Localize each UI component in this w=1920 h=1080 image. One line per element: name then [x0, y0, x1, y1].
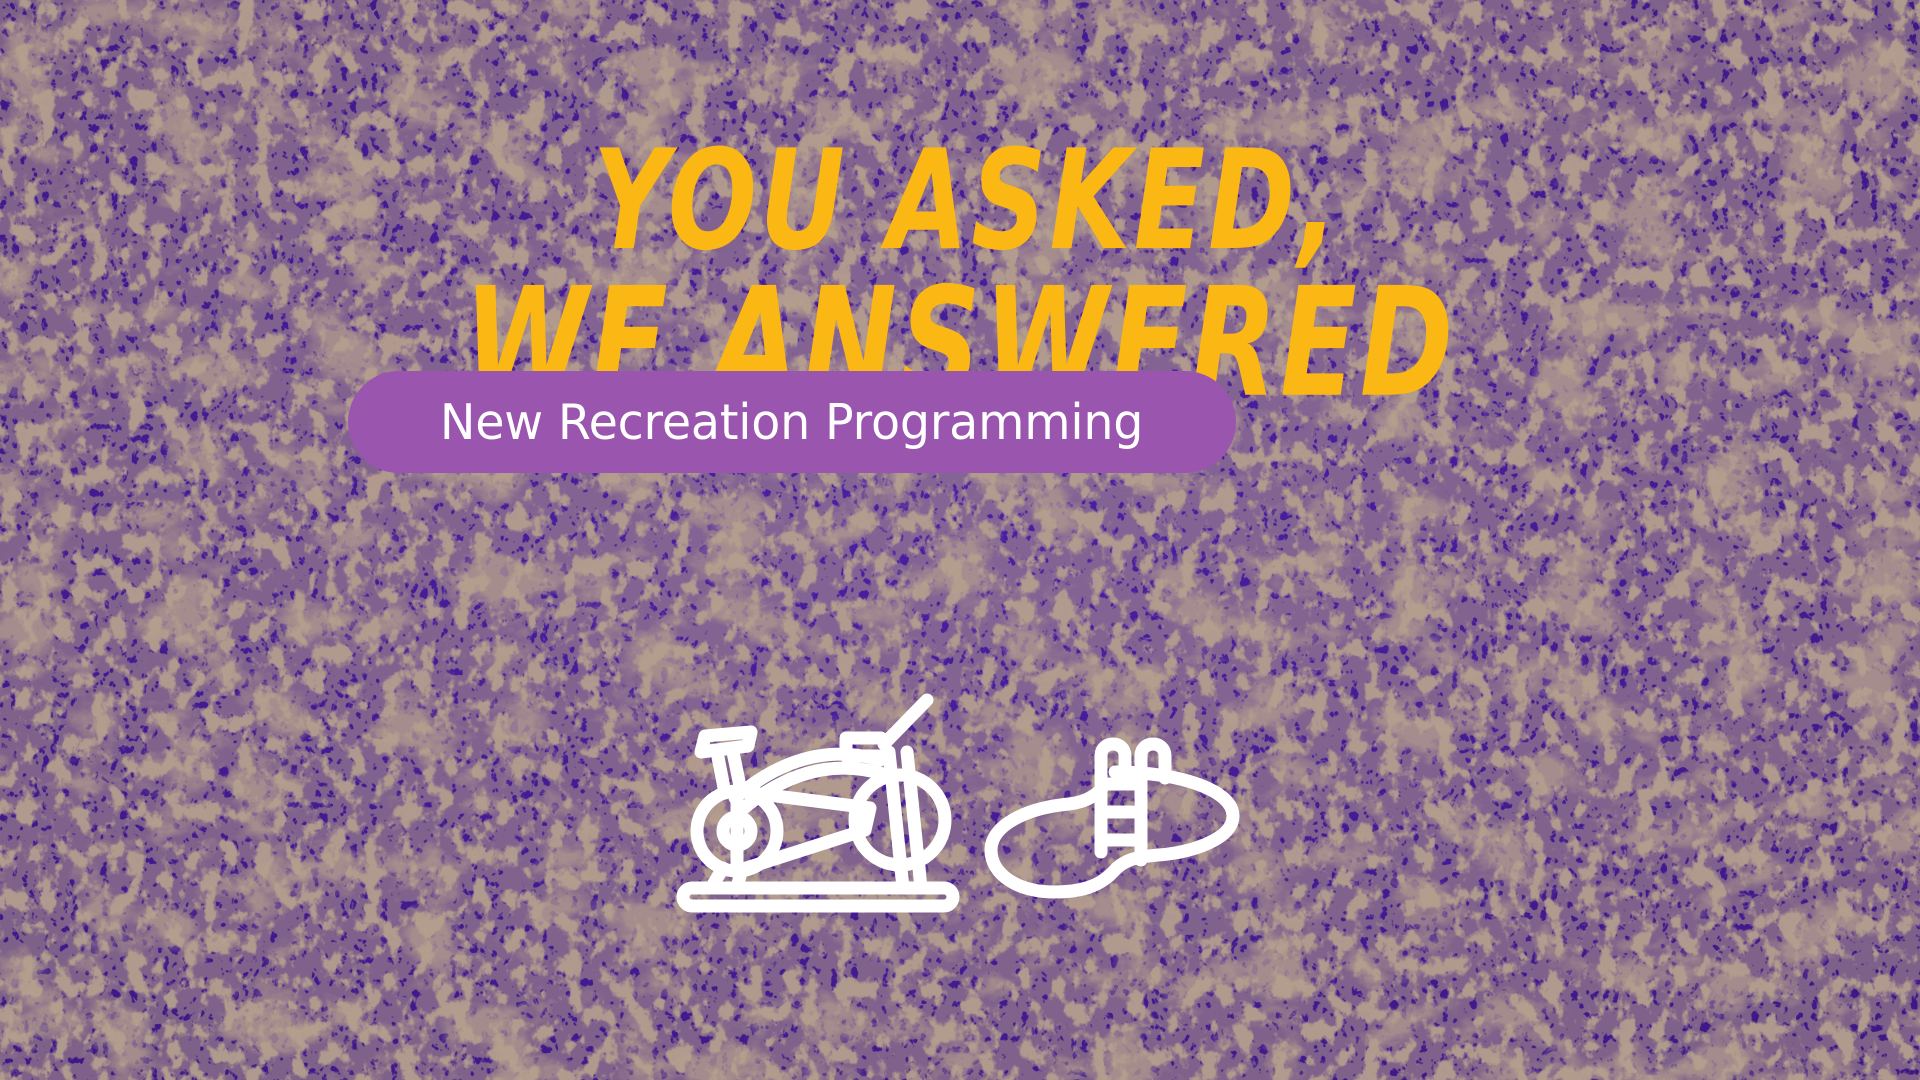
headline-line-1: YOU ASKED,	[29, 135, 1891, 268]
promo-banner: YOU ASKED, WE ANSWERED New Recreation Pr…	[0, 0, 1920, 1080]
exercise-bike-icon	[675, 690, 961, 918]
subtitle-pill: New Recreation Programming	[348, 371, 1236, 473]
headline: YOU ASKED, WE ANSWERED	[0, 150, 1920, 399]
icon-row	[0, 690, 1920, 918]
subtitle-pill-label: New Recreation Programming	[440, 394, 1143, 451]
swimming-pool-icon	[983, 734, 1245, 904]
